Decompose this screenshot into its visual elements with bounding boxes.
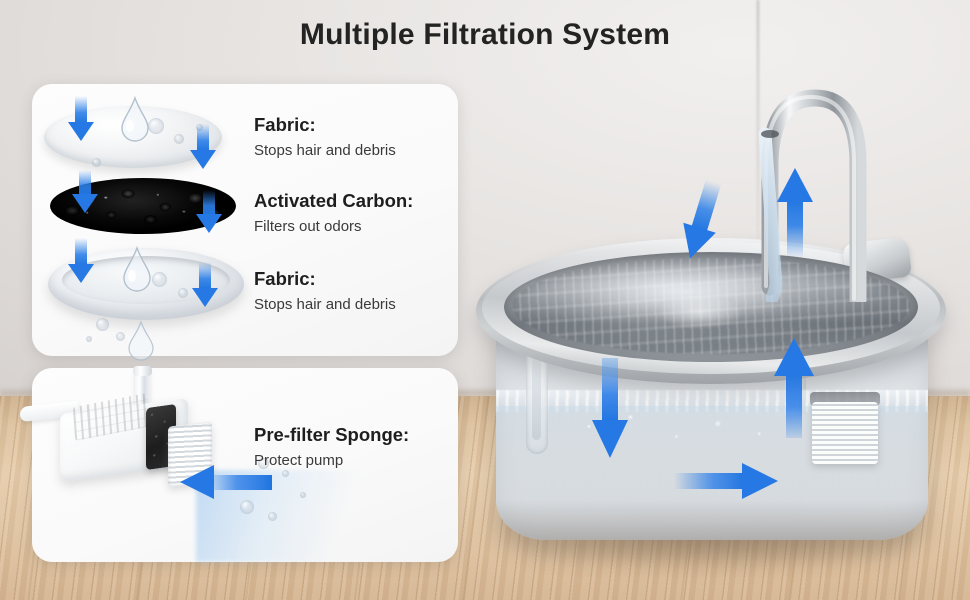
flow-arrow-tank-down bbox=[588, 358, 632, 471]
layer-label-activated-carbon: Activated Carbon: Filters out odors bbox=[254, 190, 454, 236]
water-bubble bbox=[116, 332, 125, 341]
water-bubble bbox=[300, 492, 306, 498]
layer-title: Fabric: bbox=[254, 268, 454, 290]
pump-label-group: Pre-filter Sponge: Protect pump bbox=[254, 424, 454, 470]
pet-water-fountain bbox=[452, 70, 970, 540]
water-bubble bbox=[174, 134, 184, 144]
water-level-indicator-bar bbox=[532, 348, 541, 440]
water-bubble bbox=[86, 336, 92, 342]
layer-label-fabric-bottom: Fabric: Stops hair and debris bbox=[254, 268, 454, 314]
arrow-down-icon bbox=[70, 170, 100, 218]
layer-subtitle: Stops hair and debris bbox=[254, 141, 454, 161]
layer-label-fabric-top: Fabric: Stops hair and debris bbox=[254, 114, 454, 160]
arrow-down-icon bbox=[188, 124, 218, 172]
arrow-down-icon bbox=[190, 262, 220, 310]
pump-outlet-tube-top bbox=[133, 366, 152, 376]
water-bubble bbox=[240, 500, 254, 514]
water-bubble bbox=[152, 272, 167, 287]
water-bubble bbox=[92, 158, 101, 167]
arrow-down-icon bbox=[194, 190, 224, 238]
water-bubble bbox=[96, 318, 109, 331]
water-bubble bbox=[268, 512, 277, 521]
arrow-down-icon bbox=[66, 238, 96, 286]
layer-subtitle: Stops hair and debris bbox=[254, 295, 454, 315]
layer-title: Fabric: bbox=[254, 114, 454, 136]
flow-arrow-stream-down bbox=[680, 180, 722, 271]
water-bubble bbox=[178, 288, 188, 298]
flow-arrow-spout-up bbox=[773, 162, 817, 263]
page-title: Multiple Filtration System bbox=[0, 18, 970, 52]
flow-arrow-tank-right bbox=[674, 460, 784, 507]
filter-grill bbox=[812, 402, 878, 464]
flow-arrow-pump-up bbox=[770, 332, 818, 445]
water-bubble bbox=[148, 118, 164, 134]
infographic-canvas: Multiple Filtration System bbox=[0, 0, 970, 600]
pump-subtitle: Protect pump bbox=[254, 451, 454, 471]
arrow-down-icon bbox=[66, 96, 96, 144]
layer-title: Activated Carbon: bbox=[254, 190, 454, 212]
water-bubble bbox=[282, 470, 289, 477]
layer-subtitle: Filters out odors bbox=[254, 217, 454, 237]
pump-title: Pre-filter Sponge: bbox=[254, 424, 454, 446]
